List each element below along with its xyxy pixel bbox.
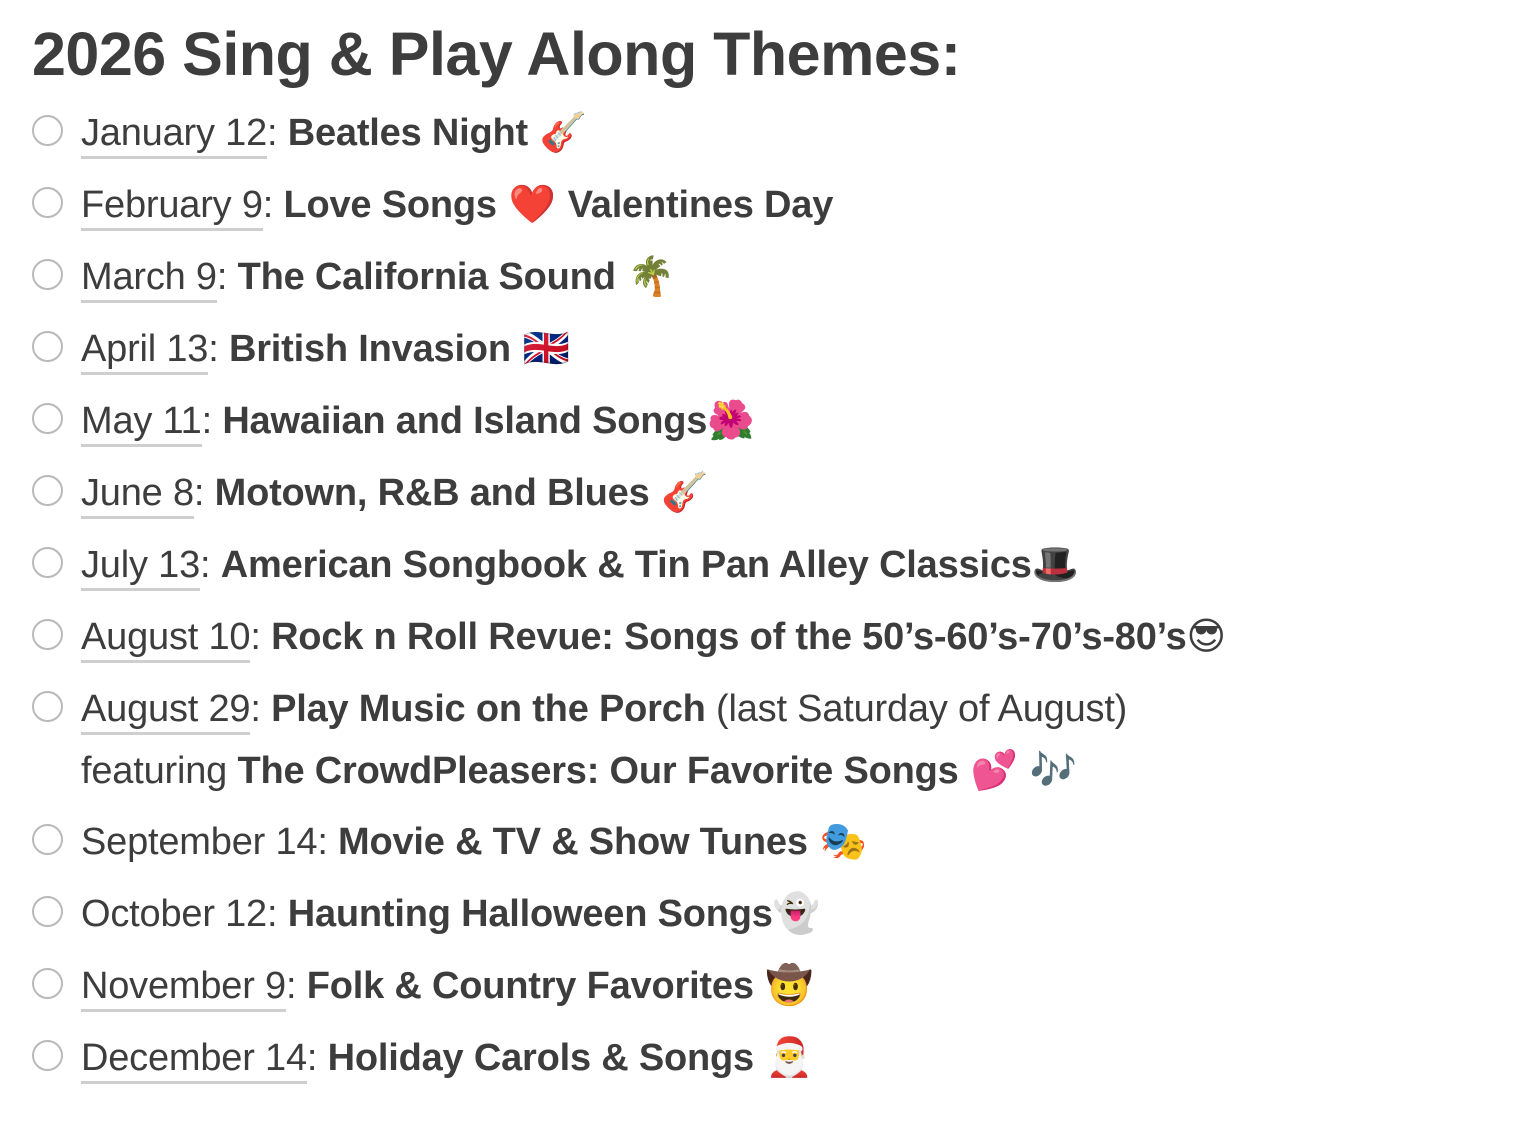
theme-list-item[interactable]: October 12: Haunting Halloween Songs👻 [32, 878, 1521, 950]
theme-second-line-title: The CrowdPleasers: Our Favorite Songs [237, 750, 958, 792]
theme-note: (last Saturday of August) [706, 688, 1127, 730]
theme-item-text: April 13: British Invasion 🇬🇧 [81, 313, 1521, 385]
theme-list-item[interactable]: September 14: Movie & TV & Show Tunes 🎭 [32, 806, 1521, 878]
theme-list-item[interactable]: June 8: Motown, R&B and Blues 🎸 [32, 457, 1521, 529]
checkbox-circle-icon[interactable] [32, 896, 63, 927]
theme-title: British Invasion [229, 328, 511, 370]
theme-date-link[interactable]: December 14 [81, 1037, 307, 1084]
checkbox-circle-icon[interactable] [32, 331, 63, 362]
theme-list-item[interactable]: May 11: Hawaiian and Island Songs🌺 [32, 385, 1521, 457]
theme-second-line-prefix: featuring [81, 750, 237, 792]
theme-emoji-icon: ❤️ [497, 182, 568, 226]
checkbox-circle-icon[interactable] [32, 403, 63, 434]
theme-item-text: August 10: Rock n Roll Revue: Songs of t… [81, 601, 1521, 673]
theme-emoji-icon: 🇬🇧 [511, 326, 570, 370]
theme-date-separator: : [286, 965, 307, 1007]
theme-list-item[interactable]: November 9: Folk & Country Favorites 🤠 [32, 950, 1521, 1022]
theme-date-separator: : [263, 184, 284, 226]
theme-list-item[interactable]: February 9: Love Songs ❤️ Valentines Day [32, 169, 1521, 241]
theme-title: Rock n Roll Revue: Songs of the 50’s-60’… [271, 616, 1186, 658]
theme-list-item[interactable]: March 9: The California Sound 🌴 [32, 241, 1521, 313]
theme-emoji-icon: 🎅 [754, 1035, 813, 1079]
theme-date-separator: : [208, 328, 229, 370]
theme-date-separator: : [307, 1037, 328, 1079]
theme-date-separator: : [194, 472, 215, 514]
theme-date-link[interactable]: November 9 [81, 965, 286, 1012]
theme-date-separator: : [317, 821, 338, 863]
theme-item-text: July 13: American Songbook & Tin Pan All… [81, 529, 1521, 601]
checkbox-circle-icon[interactable] [32, 547, 63, 578]
theme-title: Haunting Halloween Songs [288, 893, 773, 935]
theme-second-line-emoji-icon: 💕 🎶 [959, 748, 1077, 792]
checkbox-circle-icon[interactable] [32, 475, 63, 506]
theme-item-text: June 8: Motown, R&B and Blues 🎸 [81, 457, 1521, 529]
theme-list-item[interactable]: August 10: Rock n Roll Revue: Songs of t… [32, 601, 1521, 673]
theme-title: Play Music on the Porch [271, 688, 706, 730]
theme-item-text: October 12: Haunting Halloween Songs👻 [81, 878, 1521, 950]
theme-emoji-icon: 🎩 [1032, 542, 1079, 586]
theme-emoji-icon: 🤠 [754, 963, 813, 1007]
theme-date-label: October 12 [81, 893, 267, 935]
theme-date-separator: : [267, 893, 288, 935]
theme-item-text: January 12: Beatles Night 🎸 [81, 97, 1521, 169]
checkbox-circle-icon[interactable] [32, 691, 63, 722]
theme-title: The California Sound [238, 256, 616, 298]
theme-item-text: December 14: Holiday Carols & Songs 🎅 [81, 1022, 1521, 1094]
theme-emoji-icon: 🌺 [707, 398, 754, 442]
checkbox-circle-icon[interactable] [32, 824, 63, 855]
theme-date-separator: : [267, 112, 288, 154]
theme-item-text: November 9: Folk & Country Favorites 🤠 [81, 950, 1521, 1022]
theme-item-text: September 14: Movie & TV & Show Tunes 🎭 [81, 806, 1521, 878]
theme-date-separator: : [202, 400, 223, 442]
theme-emoji-icon: 🌴 [616, 254, 675, 298]
checkbox-circle-icon[interactable] [32, 187, 63, 218]
theme-list-item[interactable]: December 14: Holiday Carols & Songs 🎅 [32, 1022, 1521, 1094]
theme-date-link[interactable]: May 11 [81, 400, 202, 447]
theme-title: Motown, R&B and Blues [215, 472, 650, 514]
theme-date-separator: : [250, 688, 271, 730]
theme-emoji-icon: 😎 [1187, 614, 1226, 658]
theme-date-link[interactable]: April 13 [81, 328, 208, 375]
theme-title-continued: Valentines Day [568, 184, 833, 226]
theme-date-separator: : [200, 544, 221, 586]
theme-date-link[interactable]: June 8 [81, 472, 194, 519]
theme-item-text: February 9: Love Songs ❤️ Valentines Day [81, 169, 1521, 241]
checkbox-circle-icon[interactable] [32, 968, 63, 999]
theme-emoji-icon: 🎸 [528, 110, 587, 154]
theme-title: Love Songs [283, 184, 496, 226]
checkbox-circle-icon[interactable] [32, 619, 63, 650]
checkbox-circle-icon[interactable] [32, 115, 63, 146]
theme-date-link[interactable]: August 29 [81, 688, 250, 735]
theme-item-text: March 9: The California Sound 🌴 [81, 241, 1521, 313]
theme-date-link[interactable]: January 12 [81, 112, 267, 159]
theme-list-item[interactable]: July 13: American Songbook & Tin Pan All… [32, 529, 1521, 601]
theme-date-link[interactable]: August 10 [81, 616, 250, 663]
checkbox-circle-icon[interactable] [32, 1040, 63, 1071]
theme-list: January 12: Beatles Night 🎸February 9: L… [0, 97, 1521, 1094]
theme-title: Movie & TV & Show Tunes [338, 821, 808, 863]
theme-date-link[interactable]: July 13 [81, 544, 200, 591]
theme-date-link[interactable]: March 9 [81, 256, 217, 303]
theme-list-item[interactable]: August 29: Play Music on the Porch (last… [32, 673, 1521, 806]
theme-emoji-icon: 🎸 [650, 470, 709, 514]
theme-title: American Songbook & Tin Pan Alley Classi… [221, 544, 1032, 586]
theme-date-separator: : [217, 256, 238, 298]
theme-title: Holiday Carols & Songs [328, 1037, 754, 1079]
checkbox-circle-icon[interactable] [32, 259, 63, 290]
theme-title: Beatles Night [288, 112, 528, 154]
theme-emoji-icon: 👻 [773, 891, 820, 935]
theme-emoji-icon: 🎭 [808, 819, 867, 863]
page-title: 2026 Sing & Play Along Themes: [0, 0, 1521, 97]
theme-date-separator: : [250, 616, 271, 658]
theme-item-text: May 11: Hawaiian and Island Songs🌺 [81, 385, 1521, 457]
theme-item-text: August 29: Play Music on the Porch (last… [81, 673, 1521, 806]
theme-title: Folk & Country Favorites [307, 965, 754, 1007]
themes-page: 2026 Sing & Play Along Themes: January 1… [0, 0, 1521, 1137]
theme-list-item[interactable]: April 13: British Invasion 🇬🇧 [32, 313, 1521, 385]
theme-date-label: September 14 [81, 821, 317, 863]
theme-title: Hawaiian and Island Songs [222, 400, 707, 442]
theme-list-item[interactable]: January 12: Beatles Night 🎸 [32, 97, 1521, 169]
theme-date-link[interactable]: February 9 [81, 184, 263, 231]
